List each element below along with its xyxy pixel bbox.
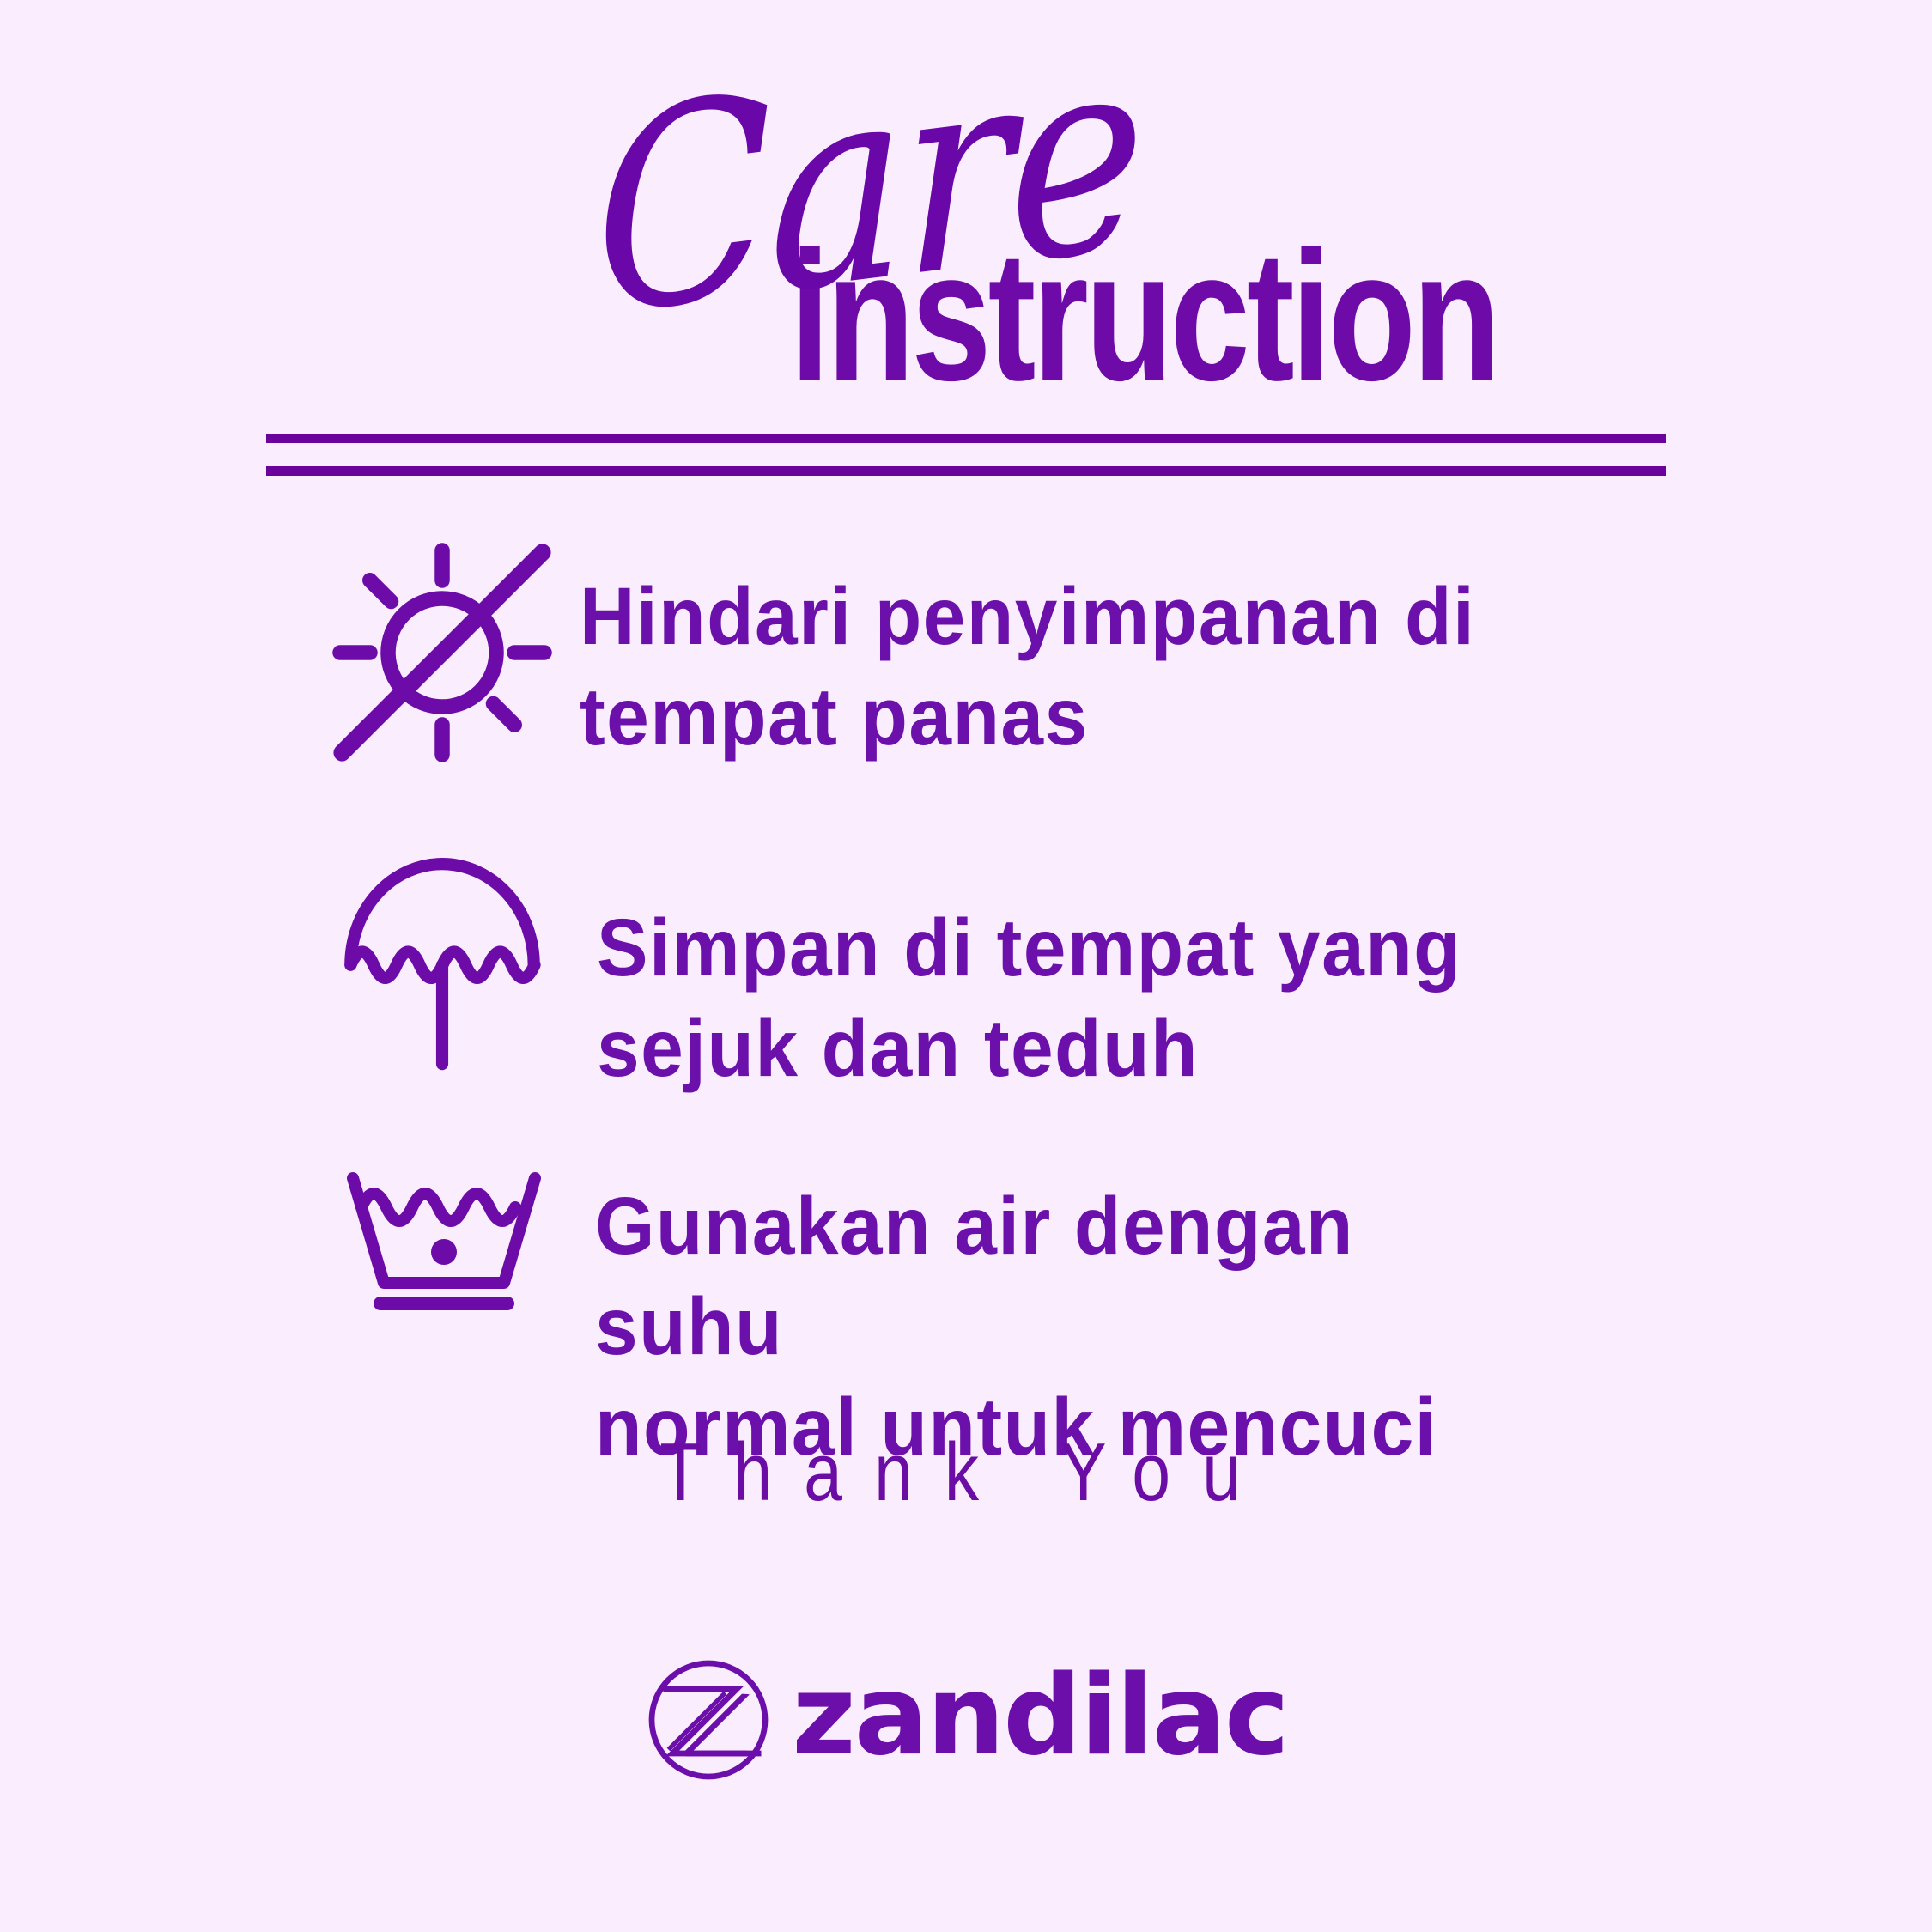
umbrella-icon xyxy=(322,841,597,1073)
instruction-line-1: Hindari penyimpanan di xyxy=(580,567,1548,667)
list-item: Gunakan air dengan suhu normal untuk men… xyxy=(0,1159,1932,1382)
no-sun-icon xyxy=(322,532,580,773)
list-item: Hindari penyimpanan di tempat panas xyxy=(0,532,1932,841)
page-title-script: Care xyxy=(592,15,1143,355)
z-monogram-circle-icon xyxy=(644,1656,773,1784)
brand-wordmark: zandilac xyxy=(792,1662,1288,1771)
instruction-text: Simpan di tempat yang sejuk dan teduh xyxy=(597,841,1565,1099)
brand-logo: zandilac xyxy=(0,1656,1932,1784)
instruction-line-1: Simpan di tempat yang xyxy=(597,898,1565,999)
instruction-line-2: sejuk dan teduh xyxy=(597,999,1565,1099)
instruction-list: Hindari penyimpanan di tempat panas Simp… xyxy=(0,532,1932,1382)
instruction-text: Hindari penyimpanan di tempat panas xyxy=(580,532,1548,768)
instruction-line-2: tempat panas xyxy=(580,667,1548,768)
instruction-line-1: Gunakan air dengan suhu xyxy=(595,1176,1564,1377)
divider-line-bottom xyxy=(266,466,1666,476)
divider-line-top xyxy=(266,434,1666,443)
wash-tub-icon xyxy=(322,1159,595,1314)
list-item: Simpan di tempat yang sejuk dan teduh xyxy=(0,841,1932,1159)
thank-you-text: Thank You xyxy=(155,1425,1777,1520)
header: Care instruction xyxy=(0,0,1932,447)
care-instruction-card: Care instruction xyxy=(0,0,1932,1932)
